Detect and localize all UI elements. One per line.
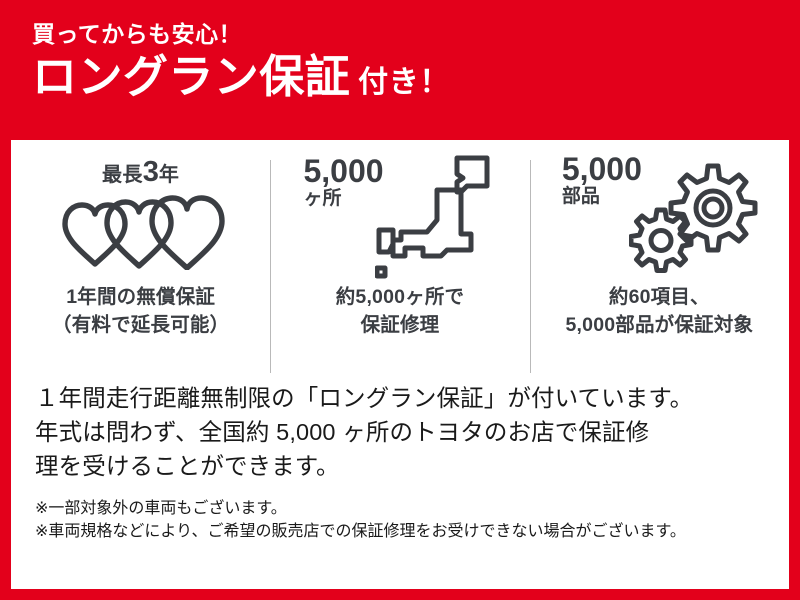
- long-run-warranty-poster: 買ってからも安心！ ロングラン保証 付き！ 最長 3 年: [0, 0, 800, 600]
- header-title-row: ロングラン保証 付き！: [32, 53, 800, 101]
- poster-header: 買ってからも安心！ ロングラン保証 付き！: [0, 0, 800, 140]
- japan-map-icon: [375, 152, 500, 280]
- caption-line: 1年間の無償保証: [52, 284, 229, 312]
- feature-graphic: 5,000 部品: [536, 152, 783, 282]
- footnote-line: ※車両規格などにより、ご希望の販売店での保証修理をお受けできない場合がございます…: [35, 520, 769, 543]
- feature-warranty-period: 最長 3 年: [11, 152, 270, 375]
- badge-prefix: 最長: [102, 158, 143, 187]
- header-title-suffix: 付き！: [358, 57, 450, 101]
- caption-line: 約60項目、: [566, 284, 754, 312]
- badge-number: 5,000: [303, 156, 383, 186]
- caption-line: 5,000部品が保証対象: [566, 312, 754, 340]
- gears-icon: [629, 162, 761, 280]
- lead-line: １年間走行距離無制限の「ロングラン保証」が付いています。: [35, 381, 763, 415]
- header-kicker: 買ってからも安心！: [32, 22, 800, 47]
- feature-list: 最長 3 年: [11, 140, 789, 375]
- badge-number: 3: [143, 158, 159, 187]
- lead-line: 理を受けることができます。: [35, 449, 763, 483]
- feature-service-locations: 5,000 ヶ所: [270, 152, 529, 375]
- feature-badge: 5,000 ヶ所: [303, 156, 383, 210]
- feature-caption: 約5,000ヶ所で 保証修理: [336, 284, 465, 339]
- badge-suffix: 年: [159, 158, 179, 187]
- feature-caption: 1年間の無償保証 （有料で延長可能）: [52, 284, 229, 339]
- feature-caption: 約60項目、 5,000部品が保証対象: [566, 284, 754, 339]
- caption-line: 保証修理: [336, 312, 465, 340]
- feature-graphic: 最長 3 年: [17, 152, 264, 282]
- feature-covered-parts: 5,000 部品: [530, 152, 789, 375]
- footnote-line: ※一部対象外の車両もございます。: [35, 497, 769, 520]
- feature-badge: 最長 3 年: [102, 158, 179, 187]
- badge-unit: ヶ所: [303, 188, 383, 210]
- footnotes: ※一部対象外の車両もございます。 ※車両規格などにより、ご希望の販売店での保証修…: [11, 497, 789, 543]
- lead-paragraph: １年間走行距離無制限の「ロングラン保証」が付いています。 年式は問わず、全国約 …: [11, 381, 789, 483]
- three-hearts-icon: [57, 192, 225, 270]
- page-title: ロングラン保証: [32, 53, 350, 100]
- content-panel: 最長 3 年: [11, 140, 789, 589]
- feature-graphic: 5,000 ヶ所: [276, 152, 523, 282]
- caption-line: （有料で延長可能）: [52, 312, 229, 340]
- caption-line: 約5,000ヶ所で: [336, 284, 465, 312]
- lead-line: 年式は問わず、全国約 5,000 ヶ所のトヨタのお店で保証修: [35, 415, 763, 449]
